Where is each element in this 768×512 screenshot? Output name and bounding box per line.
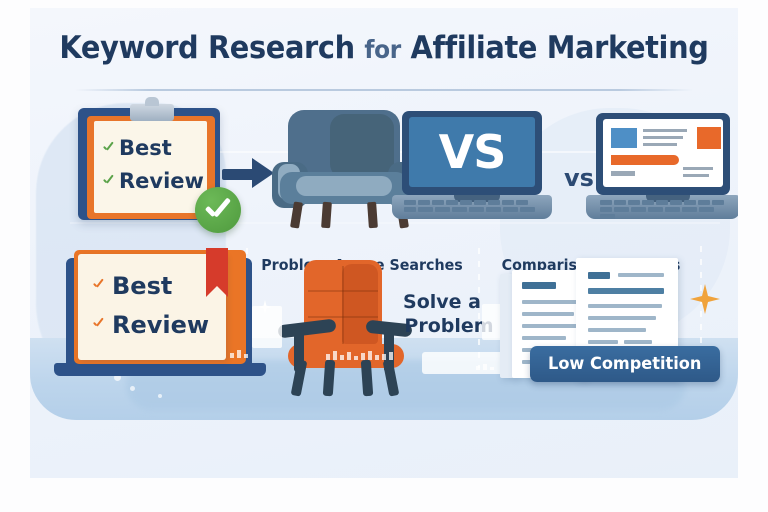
page-title: Keyword Research for Affiliate Marketing (30, 30, 738, 66)
status-badge-label: Low Competition (548, 354, 701, 374)
right-arrow-icon (222, 158, 276, 188)
decor-dot-2 (130, 386, 135, 391)
clipboard-item-1: Best (102, 136, 172, 160)
document-line (588, 328, 646, 332)
sparkle-icon-right (690, 284, 720, 314)
infographic-canvas: Keyword Research for Affiliate Marketing (0, 0, 768, 512)
review-card-item-1: Best (92, 272, 172, 300)
laptop-keyboard-right (600, 200, 728, 219)
review-card-item-1-label: Best (112, 272, 172, 300)
check-mark-icon (102, 175, 114, 187)
screen-text-line (643, 129, 687, 132)
laptop-compare-right (596, 113, 730, 223)
laptop-left-screen-text: VS (409, 117, 535, 187)
document-line (624, 340, 652, 344)
screen-block-orange (697, 127, 721, 149)
screen-bar-orange (611, 155, 679, 165)
screen-text-line (683, 167, 713, 170)
screen-block-blue (611, 128, 637, 148)
decor-tiny-bars-right (476, 362, 494, 370)
document-line (522, 300, 578, 304)
document-line (588, 316, 656, 320)
document-line (588, 288, 664, 294)
title-part-1: Keyword Research (59, 30, 354, 66)
document-line (588, 304, 662, 308)
document-line (618, 273, 664, 277)
document-heading-line (588, 272, 610, 279)
title-part-for: for (364, 35, 400, 64)
laptop-keyboard-left (404, 200, 540, 212)
review-card-item-2: Review (92, 311, 209, 339)
decor-tiny-bars-left (230, 348, 248, 358)
review-card-device-base (54, 363, 266, 376)
laptop-vs-separator-text: vs (564, 164, 594, 192)
check-mark-icon (92, 279, 107, 294)
title-part-2: Affiliate Marketing (411, 30, 709, 66)
screen-text-line (611, 171, 635, 176)
clipboard-paper (94, 121, 207, 213)
clipboard-item-2-label: Review (119, 169, 204, 193)
check-mark-icon (92, 318, 107, 333)
decor-tiny-bars-mid (326, 350, 393, 360)
status-badge-low-competition: Low Competition (530, 346, 720, 382)
document-heading-line (522, 282, 556, 289)
screen-text-line (683, 174, 709, 177)
decor-small-paper-left (252, 306, 282, 348)
laptop-right-screen-content (603, 119, 723, 187)
clipboard-item-2: Review (102, 169, 204, 193)
screen-text-line (643, 136, 683, 139)
clipboard-item-1-label: Best (119, 136, 172, 160)
document-line (522, 336, 566, 340)
review-card-item-2-label: Review (112, 311, 209, 339)
document-line (588, 340, 618, 344)
verified-check-badge (195, 187, 241, 233)
screen-text-line (643, 143, 677, 146)
infographic-card: Keyword Research for Affiliate Marketing (30, 8, 738, 478)
bookmark-ribbon-icon (206, 248, 228, 286)
clipboard-clip-icon (130, 104, 174, 121)
review-card-paper (78, 254, 226, 360)
document-line (522, 324, 578, 328)
document-line (522, 312, 574, 316)
decor-dot-3 (158, 394, 162, 398)
laptop-vs-left: VS (402, 111, 542, 223)
check-mark-icon (102, 142, 114, 154)
title-divider (75, 89, 693, 91)
